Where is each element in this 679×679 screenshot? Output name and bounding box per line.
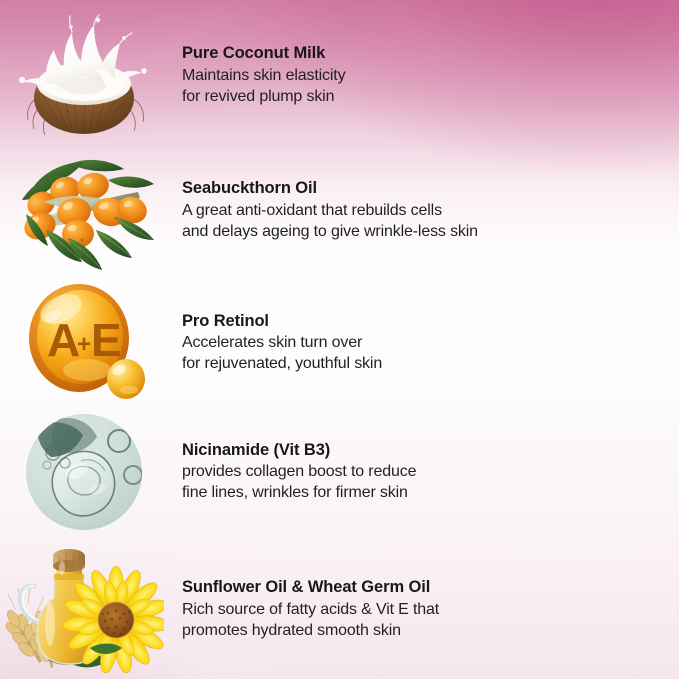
ingredient-description: Accelerates skin turn over for rejuvenat…	[182, 333, 639, 375]
ingredient-row-nicinamide: Nicinamide (Vit B3) provides collagen bo…	[0, 408, 679, 536]
svg-text:E: E	[91, 314, 122, 366]
ingredient-text-nicinamide: Nicinamide (Vit B3) provides collagen bo…	[168, 440, 679, 505]
niacinamide-gel-serum-icon	[25, 413, 143, 531]
ingredient-text-pro-retinol: Pro Retinol Accelerates skin turn over f…	[168, 311, 679, 376]
ingredient-text-sunflower-oil: Sunflower Oil & Wheat Germ Oil Rich sour…	[168, 577, 679, 642]
ingredient-visual-seabuckthorn	[0, 143, 168, 278]
ingredient-visual-sunflower	[0, 540, 168, 679]
ingredient-description: A great anti-oxidant that rebuilds cells…	[182, 201, 639, 243]
ingredient-row-pro-retinol: A + E Pro Retinol Accelerates skin turn …	[0, 278, 679, 408]
ingredient-description: Maintains skin elasticity for revived pl…	[182, 66, 639, 108]
ingredient-row-seabuckthorn-oil: Seabuckthorn Oil A great anti-oxidant th…	[0, 143, 679, 278]
ingredient-text-coconut-milk: Pure Coconut Milk Maintains skin elastic…	[168, 43, 679, 108]
ingredient-visual-coconut	[0, 8, 168, 143]
ingredients-infographic: Pure Coconut Milk Maintains skin elastic…	[0, 0, 679, 679]
seabuckthorn-berries-icon	[8, 150, 160, 272]
ingredient-title: Seabuckthorn Oil	[182, 178, 639, 200]
ingredient-title: Pro Retinol	[182, 311, 639, 333]
ingredient-visual-nicinamide	[0, 408, 168, 536]
coconut-milk-splash-icon	[14, 14, 154, 138]
ingredient-list: Pure Coconut Milk Maintains skin elastic…	[0, 0, 679, 679]
svg-text:+: +	[77, 331, 91, 358]
ingredient-text-seabuckthorn-oil: Seabuckthorn Oil A great anti-oxidant th…	[168, 178, 679, 243]
sunflower-oil-bottle-icon	[4, 544, 164, 676]
ingredient-title: Sunflower Oil & Wheat Germ Oil	[182, 577, 639, 599]
ingredient-visual-retinol: A + E	[0, 278, 168, 408]
ingredient-description: Rich source of fatty acids & Vit E that …	[182, 600, 639, 642]
ingredient-description: provides collagen boost to reduce fine l…	[182, 462, 639, 504]
vitamin-a-plus-e-capsule-icon: A + E	[21, 282, 147, 404]
svg-text:A: A	[47, 314, 80, 366]
ingredient-title: Pure Coconut Milk	[182, 43, 639, 65]
ingredient-title: Nicinamide (Vit B3)	[182, 440, 639, 462]
ingredient-row-sunflower-oil: Sunflower Oil & Wheat Germ Oil Rich sour…	[0, 540, 679, 679]
ingredient-row-coconut-milk: Pure Coconut Milk Maintains skin elastic…	[0, 8, 679, 143]
